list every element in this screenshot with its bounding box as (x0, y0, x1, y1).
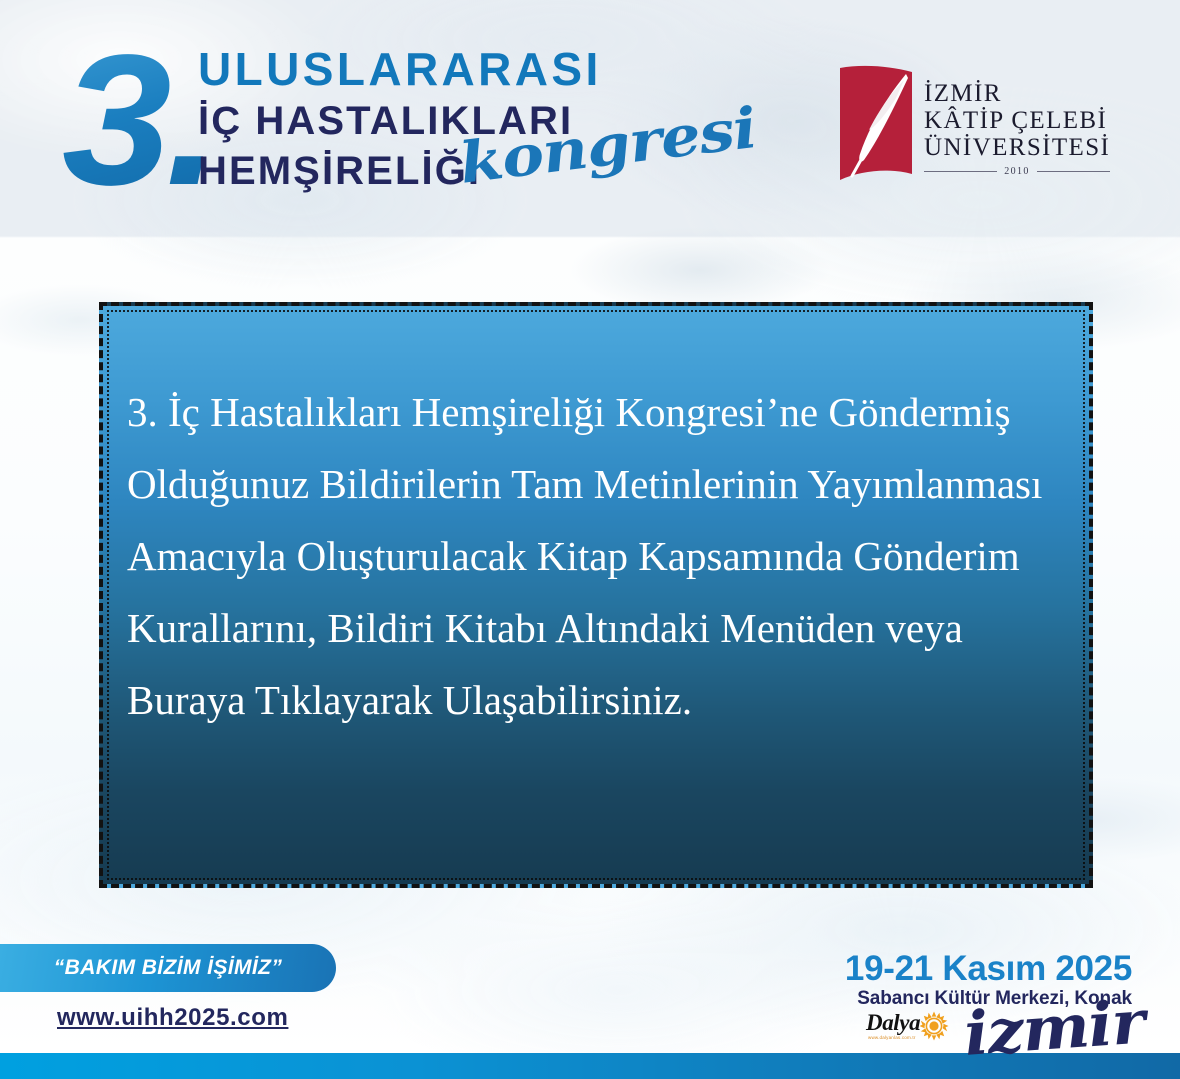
title-line-3-row: HEMŞİRELİĞİ kongresi (198, 147, 758, 197)
sponsor-logo-dalya: Dalya www.dalyanlas.com.tr (866, 1008, 948, 1050)
event-dates: 19-21 Kasım 2025 (845, 949, 1132, 989)
congress-title-block: ULUSLARARASI İÇ HASTALIKLARI HEMŞİRELİĞİ… (198, 44, 758, 197)
university-line-universitesi: ÜNİVERSİTESİ (924, 134, 1110, 161)
university-name-text: İZMİR KÂTİP ÇELEBİ ÜNİVERSİTESİ (924, 80, 1110, 161)
year-rule-right (1037, 171, 1110, 172)
announcement-inner-border: 3. İç Hastalıkları Hemşireliği Kongresi’… (107, 310, 1085, 880)
announcement-box: 3. İç Hastalıkları Hemşireliği Kongresi’… (99, 302, 1093, 888)
header: 3. ULUSLARARASI İÇ HASTALIKLARI HEMŞİREL… (0, 0, 1180, 240)
announcement-text: 3. İç Hastalıkları Hemşireliği Kongresi’… (127, 376, 1061, 736)
university-line-izmir: İZMİR (924, 80, 1110, 107)
sponsor-name: Dalya (866, 1010, 920, 1036)
sponsor-subtext: www.dalyanlas.com.tr (868, 1035, 916, 1040)
city-script-izmir: izmir (962, 987, 1146, 1069)
year-rule-left (924, 171, 997, 172)
title-line-uluslararasi: ULUSLARARASI (198, 44, 758, 94)
slogan-pill: “BAKIM BİZİM İŞİMİZ” (0, 944, 336, 992)
university-year-row: 2010 (924, 166, 1110, 177)
university-logo: İZMİR KÂTİP ÇELEBİ ÜNİVERSİTESİ 2010 (838, 62, 1110, 188)
edition-number: 3. (62, 28, 214, 214)
slogan-text: “BAKIM BİZİM İŞİMİZ” (54, 956, 282, 980)
university-founding-year: 2010 (1004, 166, 1030, 177)
university-line-katip-celebi: KÂTİP ÇELEBİ (924, 107, 1110, 134)
website-link[interactable]: www.uihh2025.com (57, 1004, 288, 1032)
sun-flower-icon (918, 1010, 950, 1042)
university-flag-quill-icon (838, 62, 918, 188)
poster-canvas: 3. ULUSLARARASI İÇ HASTALIKLARI HEMŞİREL… (0, 0, 1180, 1079)
